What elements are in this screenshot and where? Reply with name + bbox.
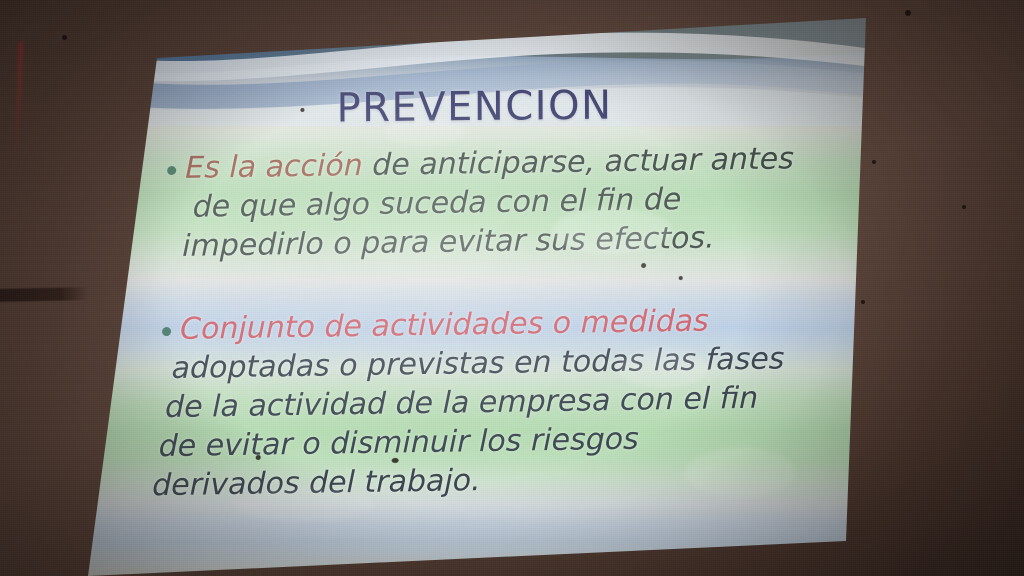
bullet-list: Es la acción de anticiparse, actuar ante… [134, 144, 845, 530]
wall-speck [861, 300, 865, 304]
bullet-2-line-3: de la actividad de la empresa con el fin [165, 381, 758, 425]
bullet-2-line-4: de evitar o disminuir los riesgos [158, 422, 639, 465]
wall-speck [872, 160, 876, 164]
bullet-2-line-5: derivados del trabajo. [152, 463, 481, 503]
list-item: Conjunto de actividades o medidas adopta… [136, 300, 839, 506]
bullet-2-line-1-lead: Conjunto de actividades o medidas [180, 304, 709, 347]
page-title: PREVENCION [85, 80, 863, 134]
wall-speck [962, 205, 966, 209]
bullet-1-line-2: de que algo suceda con el fin de [193, 182, 682, 225]
wall-rail-shadow [0, 287, 88, 302]
bullet-1-line-3: impedirlo o para evitar sus efectos. [182, 221, 715, 264]
bullet-1-line-1-rest: de anticiparse, actuar antes [363, 141, 795, 183]
list-item: Es la acción de anticiparse, actuar ante… [142, 139, 844, 267]
screenshot-root: PREVENCION Es la acción de anticiparse, … [0, 0, 1024, 576]
bullet-1-line-1-lead: Es la acción [185, 148, 363, 186]
wall-speck [905, 10, 911, 16]
slide-content: PREVENCION Es la acción de anticiparse, … [72, 18, 866, 576]
wall-speck [62, 35, 67, 40]
slide-surface: PREVENCION Es la acción de anticiparse, … [72, 18, 866, 576]
